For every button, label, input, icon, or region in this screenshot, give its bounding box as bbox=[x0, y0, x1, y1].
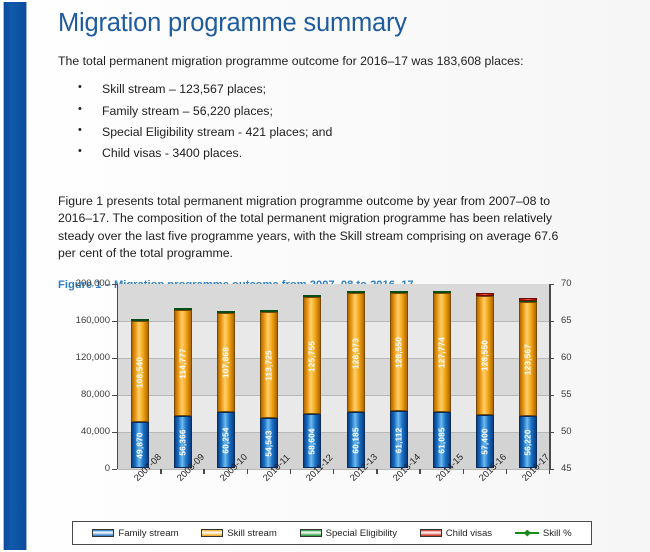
bar-segment-special-eligibility[interactable] bbox=[433, 291, 451, 293]
migration-programme-chart: 49,870108,54056,366114,77760,254107,8685… bbox=[58, 276, 650, 552]
bar-group[interactable]: 56,366114,777 bbox=[174, 283, 192, 468]
intro-paragraph: The total permanent migration programme … bbox=[58, 53, 650, 70]
page-title: Migration programme summary bbox=[58, 0, 650, 39]
bar-group[interactable]: 54,543113,725 bbox=[260, 283, 278, 468]
y-axis-tick-label: 160,000 bbox=[58, 315, 110, 326]
document-page: Migration programme summary The total pe… bbox=[0, 0, 650, 552]
legend-swatch-icon bbox=[92, 529, 114, 537]
legend-label: Skill stream bbox=[227, 528, 277, 539]
bar-value-label: 108,540 bbox=[135, 357, 144, 388]
chart-plot-area: 49,870108,54056,366114,77760,254107,8685… bbox=[117, 284, 549, 469]
y-axis-tick bbox=[112, 469, 117, 470]
legend-label: Skill % bbox=[543, 528, 572, 539]
secondary-y-axis-tick bbox=[549, 432, 554, 433]
document-content: Migration programme summary The total pe… bbox=[58, 0, 650, 552]
secondary-y-axis-tick bbox=[549, 321, 554, 322]
bar-group[interactable]: 49,870108,540 bbox=[131, 283, 149, 468]
bar-segment-special-eligibility[interactable] bbox=[174, 308, 192, 310]
bar-value-label: 60,254 bbox=[222, 428, 231, 454]
x-axis-tick bbox=[463, 469, 464, 474]
secondary-y-axis-tick bbox=[549, 395, 554, 396]
bar-value-label: 128,550 bbox=[481, 340, 490, 371]
bar-segment-family-stream[interactable]: 61,085 bbox=[433, 412, 451, 469]
left-blue-accent-bar bbox=[3, 2, 27, 550]
list-item: Special Eligibility stream - 421 places;… bbox=[58, 124, 650, 145]
x-axis-tick bbox=[376, 469, 377, 474]
secondary-y-axis-tick-label: 50 bbox=[561, 426, 591, 437]
bar-group[interactable]: 58,604125,755 bbox=[303, 283, 321, 468]
bar-value-label: 123,567 bbox=[524, 344, 533, 375]
bar-value-label: 56,220 bbox=[524, 429, 533, 455]
bar-segment-child-visas[interactable] bbox=[519, 298, 537, 301]
legend-swatch-icon bbox=[201, 529, 223, 537]
bar-segment-special-eligibility[interactable] bbox=[390, 291, 408, 293]
legend-item[interactable]: Skill stream bbox=[201, 528, 277, 539]
secondary-y-axis-tick bbox=[549, 358, 554, 359]
bar-segment-child-visas[interactable] bbox=[476, 293, 494, 296]
secondary-y-axis-tick-label: 65 bbox=[561, 315, 591, 326]
bar-value-label: 54,543 bbox=[265, 430, 274, 456]
bar-group[interactable]: 61,085127,774 bbox=[433, 283, 451, 468]
y-axis-tick bbox=[112, 395, 117, 396]
bar-group[interactable]: 60,185128,973 bbox=[347, 283, 365, 468]
bar-segment-family-stream[interactable]: 61,112 bbox=[390, 411, 408, 468]
legend-swatch-icon bbox=[300, 529, 322, 537]
bar-value-label: 61,085 bbox=[438, 427, 447, 453]
x-axis-tick bbox=[247, 469, 248, 474]
bar-segment-skill-stream[interactable]: 128,973 bbox=[347, 293, 365, 412]
legend-swatch-icon bbox=[420, 529, 442, 537]
bar-value-label: 125,755 bbox=[308, 341, 317, 372]
bar-value-label: 60,185 bbox=[351, 428, 360, 454]
y-axis-tick bbox=[112, 284, 117, 285]
bar-value-label: 128,973 bbox=[351, 338, 360, 369]
bar-segment-skill-stream[interactable]: 107,868 bbox=[217, 313, 235, 413]
legend-line-marker-icon bbox=[515, 528, 539, 538]
list-item: Family stream – 56,220 places; bbox=[58, 103, 650, 124]
bar-segment-special-eligibility[interactable] bbox=[303, 295, 321, 297]
legend-label: Special Eligibility bbox=[326, 528, 397, 539]
legend-item[interactable]: Special Eligibility bbox=[300, 528, 397, 539]
bar-segment-skill-stream[interactable]: 127,774 bbox=[433, 293, 451, 411]
bar-segment-special-eligibility[interactable] bbox=[260, 310, 278, 312]
bar-segment-skill-stream[interactable]: 125,755 bbox=[303, 297, 321, 413]
bar-group[interactable]: 56,220123,567 bbox=[519, 283, 537, 468]
bar-value-label: 113,725 bbox=[265, 350, 274, 381]
summary-bullet-list: Skill stream – 123,567 places; Family st… bbox=[58, 81, 650, 166]
bar-value-label: 127,774 bbox=[438, 337, 447, 368]
bar-value-label: 114,777 bbox=[178, 348, 187, 379]
bar-segment-skill-stream[interactable]: 128,550 bbox=[476, 296, 494, 415]
y-axis-tick-label: 120,000 bbox=[58, 352, 110, 363]
x-axis-tick bbox=[160, 469, 161, 474]
y-axis-tick bbox=[112, 321, 117, 322]
bar-group[interactable]: 61,112128,550 bbox=[390, 283, 408, 468]
bar-group[interactable]: 57,400128,550 bbox=[476, 283, 494, 468]
x-axis-tick bbox=[203, 469, 204, 474]
legend-item[interactable]: Child visas bbox=[420, 528, 492, 539]
bar-value-label: 57,400 bbox=[481, 429, 490, 455]
bar-value-label: 107,868 bbox=[222, 347, 231, 378]
y-axis-tick-label: 200,000 bbox=[58, 278, 110, 289]
y-axis-tick bbox=[112, 432, 117, 433]
bar-value-label: 58,604 bbox=[308, 428, 317, 454]
bar-segment-special-eligibility[interactable] bbox=[131, 319, 149, 321]
bar-value-label: 128,550 bbox=[394, 337, 403, 368]
bar-segment-skill-stream[interactable]: 128,550 bbox=[390, 293, 408, 412]
bar-segment-skill-stream[interactable]: 108,540 bbox=[131, 321, 149, 421]
bar-segment-family-stream[interactable]: 60,254 bbox=[217, 412, 235, 468]
bar-segment-special-eligibility[interactable] bbox=[347, 291, 365, 293]
list-item: Skill stream – 123,567 places; bbox=[58, 81, 650, 102]
bar-segment-skill-stream[interactable]: 123,567 bbox=[519, 302, 537, 416]
secondary-y-axis-tick bbox=[549, 284, 554, 285]
x-axis-tick bbox=[333, 469, 334, 474]
y-axis-tick-label: 40,000 bbox=[58, 426, 110, 437]
x-axis-tick bbox=[290, 469, 291, 474]
x-axis-tick bbox=[549, 469, 550, 474]
y-axis-tick-label: 80,000 bbox=[58, 389, 110, 400]
bar-value-label: 49,870 bbox=[135, 432, 144, 458]
chart-plot-wrap: 49,870108,54056,366114,77760,254107,8685… bbox=[58, 276, 650, 486]
secondary-y-axis bbox=[549, 284, 551, 469]
bar-value-label: 56,366 bbox=[178, 429, 187, 455]
chart-legend: Family streamSkill streamSpecial Eligibi… bbox=[72, 521, 592, 545]
bar-segment-family-stream[interactable]: 60,185 bbox=[347, 412, 365, 468]
x-axis-tick bbox=[419, 469, 420, 474]
x-axis-tick bbox=[506, 469, 507, 474]
y-axis-tick bbox=[112, 358, 117, 359]
bar-value-label: 61,112 bbox=[394, 427, 403, 453]
secondary-y-axis-tick-label: 55 bbox=[561, 389, 591, 400]
legend-label: Child visas bbox=[446, 528, 492, 539]
legend-item[interactable]: Family stream bbox=[92, 528, 178, 539]
legend-label: Family stream bbox=[118, 528, 178, 539]
y-axis-tick-label: 0 bbox=[58, 463, 110, 474]
list-item: Child visas - 3400 places. bbox=[58, 145, 650, 166]
bar-segment-skill-stream[interactable]: 113,725 bbox=[260, 312, 278, 417]
bar-group[interactable]: 60,254107,868 bbox=[217, 283, 235, 468]
secondary-y-axis-tick-label: 45 bbox=[561, 463, 591, 474]
legend-item[interactable]: Skill % bbox=[515, 528, 572, 539]
bar-segment-skill-stream[interactable]: 114,777 bbox=[174, 310, 192, 416]
secondary-y-axis-tick-label: 70 bbox=[561, 278, 591, 289]
secondary-y-axis-tick-label: 60 bbox=[561, 352, 591, 363]
bar-segment-special-eligibility[interactable] bbox=[217, 311, 235, 313]
body-paragraph: Figure 1 presents total permanent migrat… bbox=[58, 193, 568, 263]
